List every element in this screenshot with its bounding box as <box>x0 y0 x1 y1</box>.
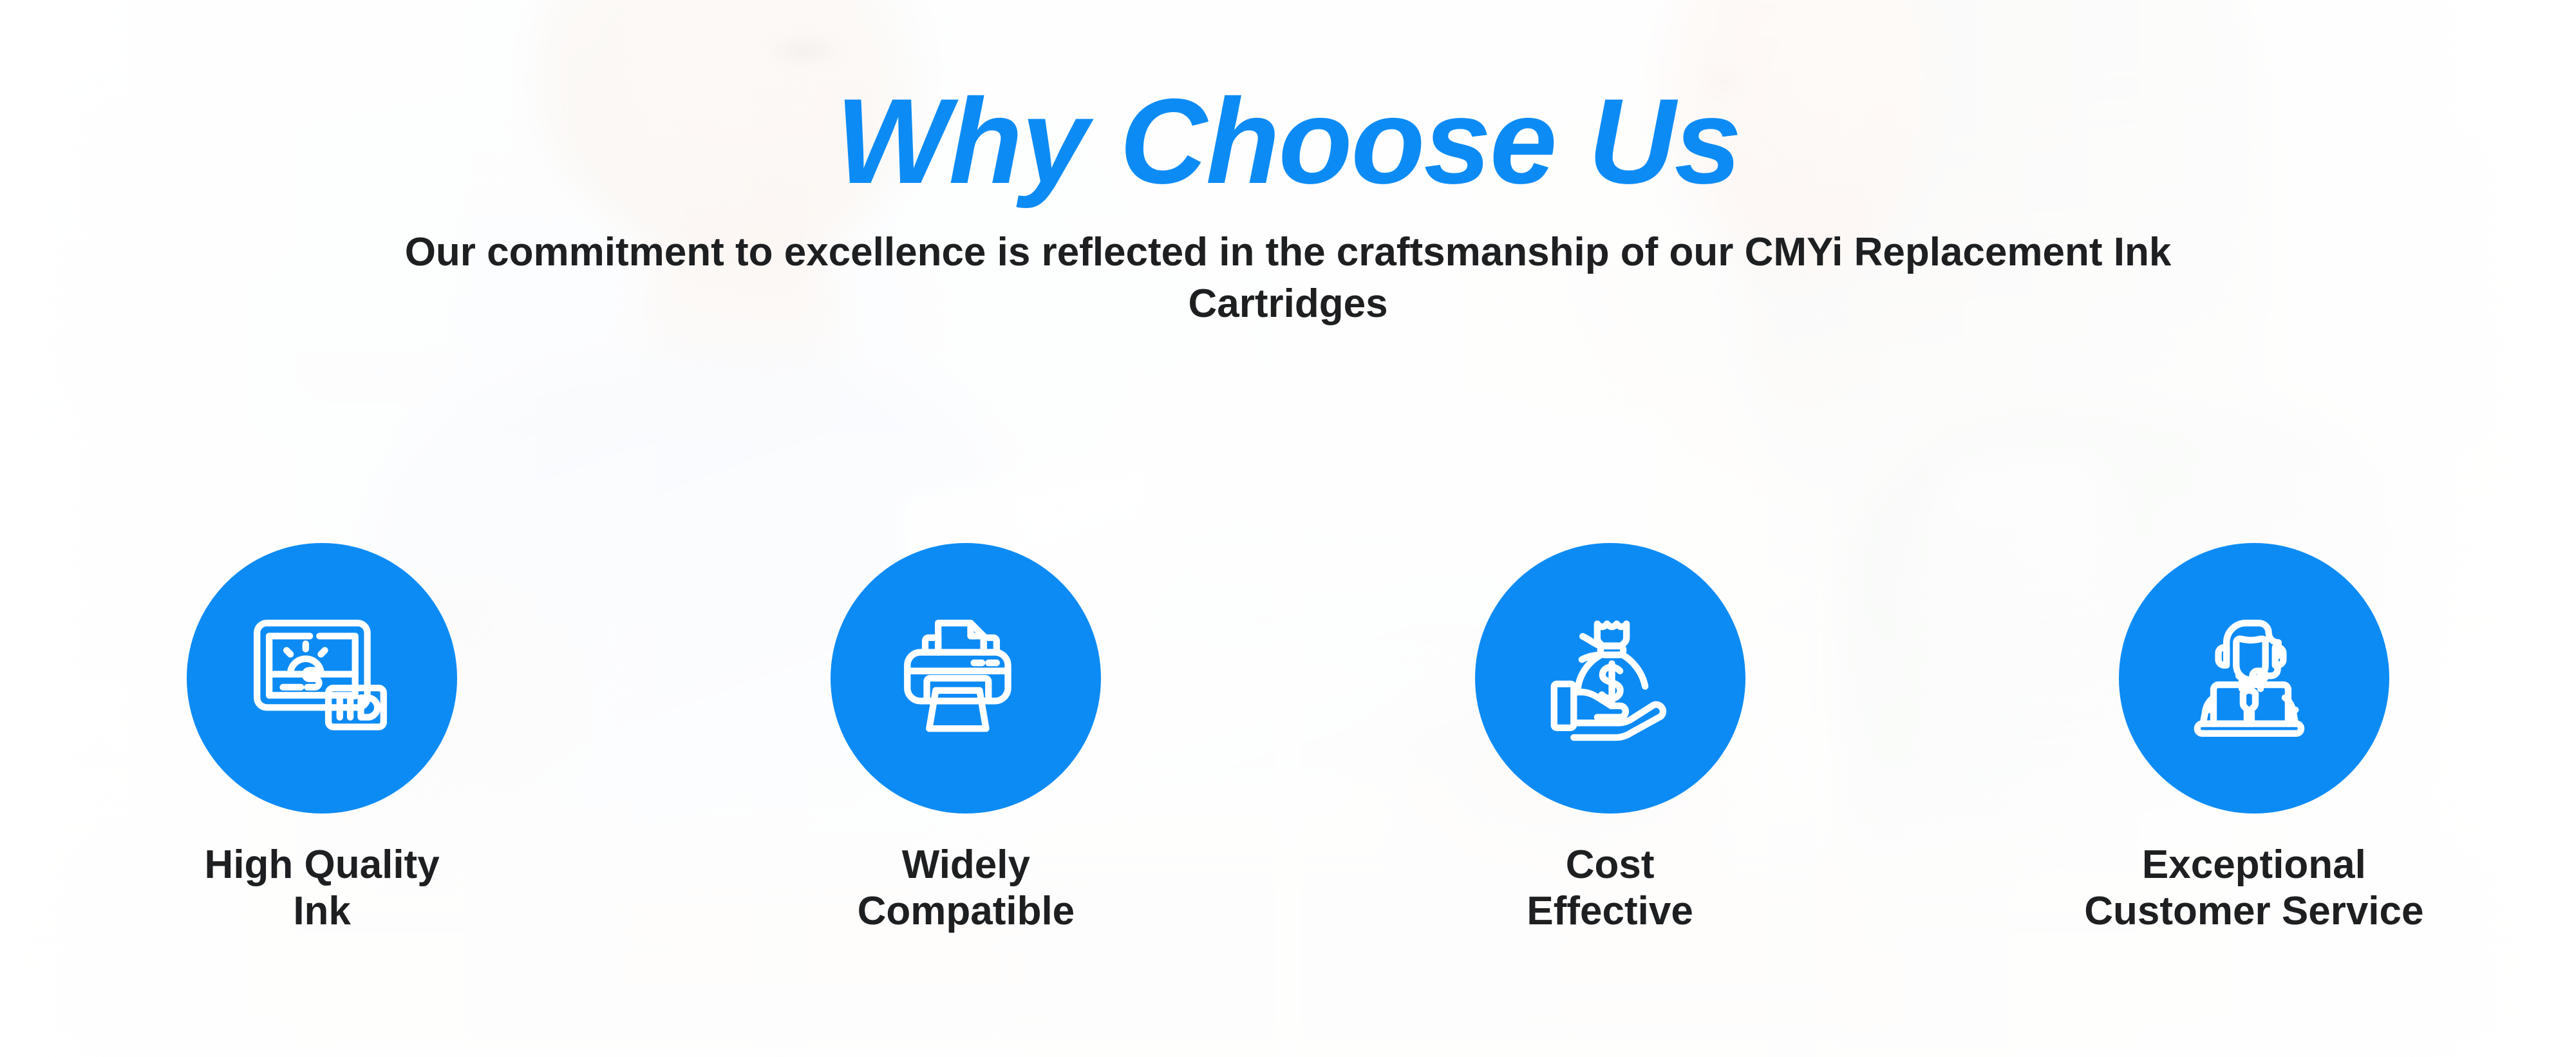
feature-label: Exceptional Customer Service <box>2084 814 2423 935</box>
support-agent-headset-laptop-icon <box>2173 597 2335 759</box>
feature-icon-badge <box>1475 543 1745 814</box>
feature-icon-badge <box>2119 543 2389 814</box>
feature-list: High Quality Ink <box>0 543 2576 935</box>
feature-label: High Quality Ink <box>205 814 440 935</box>
page-title: Why Choose Us <box>836 0 1740 204</box>
banner-content: Why Choose Us Our commitment to excellen… <box>0 0 2576 1057</box>
feature-icon-badge <box>831 543 1101 814</box>
feature-item-cost-effective[interactable]: Cost Effective <box>1288 543 1932 935</box>
hd-image-quality-icon <box>241 597 403 759</box>
feature-item-widely-compatible[interactable]: Widely Compatible <box>644 543 1288 935</box>
feature-icon-badge <box>187 543 457 814</box>
feature-item-exceptional-customer-service[interactable]: Exceptional Customer Service <box>1932 543 2576 935</box>
feature-label: Cost Effective <box>1527 814 1693 935</box>
why-choose-us-banner: Why Choose Us Our commitment to excellen… <box>0 0 2576 1057</box>
page-subtitle: Our commitment to excellence is reflecte… <box>374 204 2203 330</box>
feature-item-high-quality-ink[interactable]: High Quality Ink <box>0 543 644 935</box>
hand-holding-money-bag-icon <box>1529 597 1691 759</box>
feature-label: Widely Compatible <box>858 814 1075 935</box>
printer-icon <box>885 597 1047 759</box>
